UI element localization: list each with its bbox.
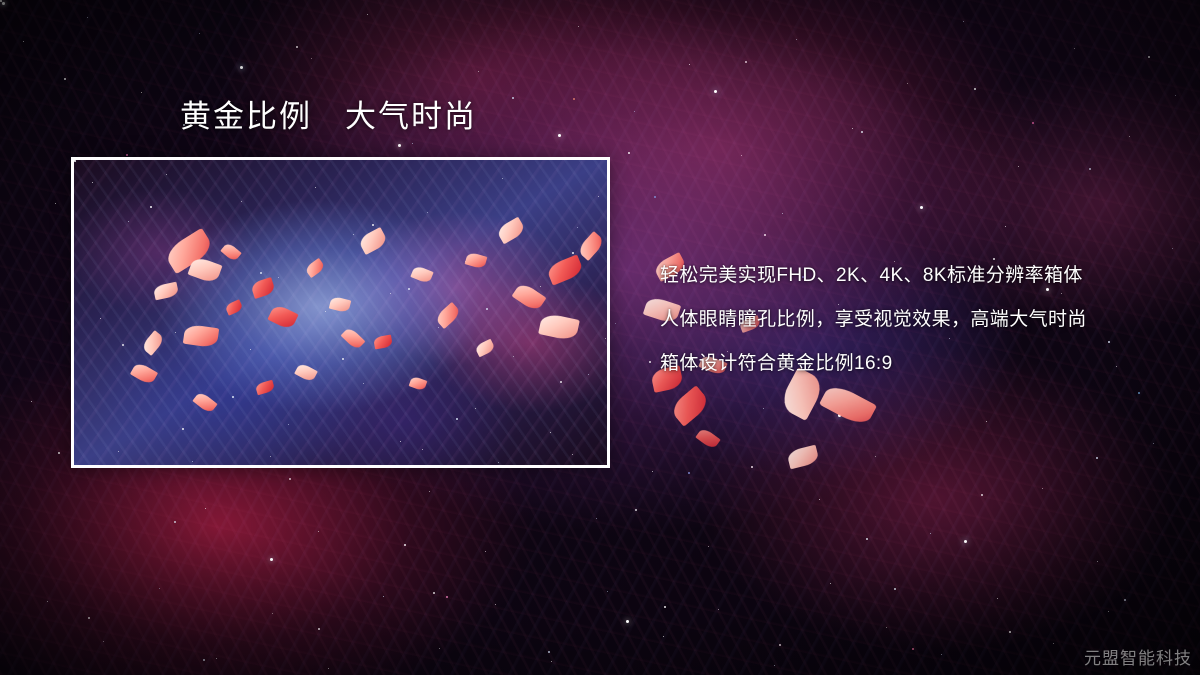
petal-outside-7 [819, 381, 877, 428]
galaxy-image-frame [71, 157, 610, 468]
slide-canvas: 黄金比例 大气时尚 轻松完美实现FHD、2K、4K、8K标准分辨率箱体 人体眼睛… [0, 0, 1200, 675]
colored-stars [0, 0, 2, 2]
bright-stars [2, 2, 5, 5]
body-line-3: 箱体设计符合黄金比例16:9 [660, 342, 1160, 386]
petal-outside-5 [668, 385, 711, 427]
panel-filaments [74, 160, 607, 465]
medium-stars [0, 0, 2, 2]
body-text-block: 轻松完美实现FHD、2K、4K、8K标准分辨率箱体 人体眼睛瞳孔比例，享受视觉效… [660, 254, 1160, 386]
small-stars [0, 0, 1, 1]
body-line-1: 轻松完美实现FHD、2K、4K、8K标准分辨率箱体 [660, 254, 1160, 298]
petal-outside-8 [786, 445, 819, 470]
petal-outside-9 [695, 427, 720, 450]
watermark: 元盟智能科技 [1084, 644, 1192, 669]
page-title: 黄金比例 大气时尚 [180, 98, 477, 137]
panel-medium-stars [74, 160, 76, 162]
body-line-2: 人体眼睛瞳孔比例，享受视觉效果，高端大气时尚 [660, 298, 1160, 342]
